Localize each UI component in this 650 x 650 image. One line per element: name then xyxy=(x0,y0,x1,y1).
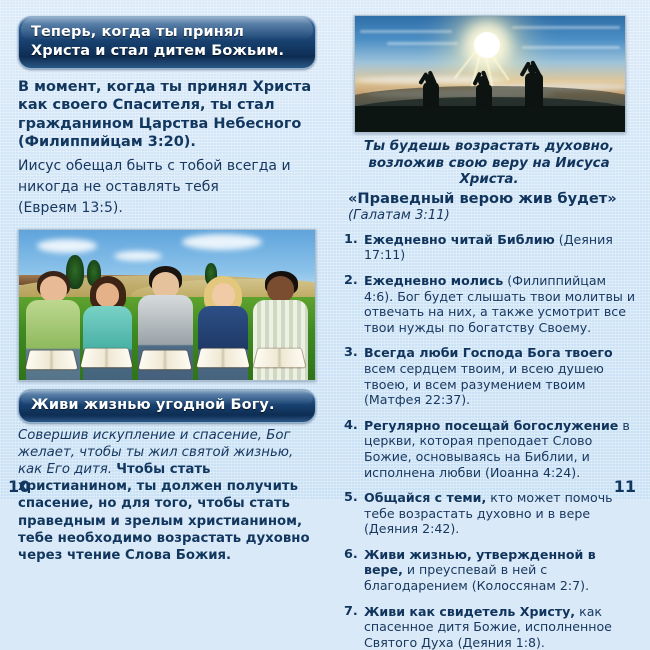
person-figure xyxy=(197,275,250,380)
person-figure xyxy=(81,275,134,380)
page-left: Теперь, когда ты принял Христа и стал ди… xyxy=(0,0,330,500)
list-item-number: 6. xyxy=(344,547,358,563)
list-item-bold: Общайся с теми, xyxy=(364,490,486,505)
steps-list: 1. Ежедневно читай Библию (Деяния 17:11)… xyxy=(342,232,638,650)
head-shape xyxy=(267,276,294,302)
list-item-bold: Ежедневно молись xyxy=(364,273,503,288)
banner-top-text: Теперь, когда ты принял Христа и стал ди… xyxy=(31,24,284,59)
cloud-streak xyxy=(512,26,620,29)
open-bible xyxy=(196,349,249,368)
open-bible xyxy=(26,350,78,369)
list-item-bold: Ежедневно читай Библию xyxy=(364,232,555,247)
cloud-shape xyxy=(114,251,162,261)
silhouette-figure xyxy=(468,68,494,110)
silhouette-figure xyxy=(414,69,440,109)
list-item-bold: Регулярно посещай богослужение xyxy=(364,418,618,433)
sun-glow xyxy=(474,32,500,58)
banner-bottom-text: Живи жизнью угодной Богу. xyxy=(31,397,275,413)
torso-shape xyxy=(423,82,439,109)
page-number-right: 11 xyxy=(614,477,636,496)
lower-paragraph: Совершив искупление и спасение, Бог жела… xyxy=(18,427,316,565)
list-item-bold: Всегда люби Господа Бога твоего xyxy=(364,345,613,360)
list-item-number: 7. xyxy=(344,604,358,620)
sub-line-3: (Евреям 13:5). xyxy=(18,198,316,219)
lower-bold-text: Чтобы стать христианином, ты должен полу… xyxy=(18,462,310,563)
sub-line-2: никогда не оставлять тебя xyxy=(18,177,316,198)
head-shape xyxy=(40,276,67,302)
photo-sunrise-praise xyxy=(354,15,626,133)
person-figure xyxy=(25,269,81,380)
torso-shape xyxy=(198,306,248,380)
list-item: 1. Ежедневно читай Библию (Деяния 17:11) xyxy=(342,232,638,263)
list-item: 3. Всегда люби Господа Бога твоего всем … xyxy=(342,345,638,407)
verse-line-1: Ты будешь возрастать духовно, xyxy=(344,139,634,156)
verse-line-2: возложив свою веру на Иисуса Христа. xyxy=(344,156,634,189)
open-bible xyxy=(81,349,133,368)
head-shape xyxy=(212,283,235,307)
silhouette-figure xyxy=(517,60,545,108)
verse-line-3: «Праведный верою жив будет» xyxy=(344,189,634,208)
torso-shape xyxy=(253,300,308,380)
open-bible xyxy=(254,349,306,368)
list-item-number: 2. xyxy=(344,273,358,289)
cloud-shape xyxy=(182,234,262,250)
cloud-streak xyxy=(387,42,457,45)
list-item: 5. Общайся с теми, кто может помочь тебе… xyxy=(342,490,638,537)
list-item-number: 4. xyxy=(344,418,358,434)
sub-paragraph: Иисус обещал быть с тобой всегда и никог… xyxy=(18,156,316,219)
list-item: 4. Регулярно посещай богослужение в церк… xyxy=(342,418,638,480)
cloud-shape xyxy=(37,239,97,253)
verse-heading: Ты будешь возрастать духовно, возложив с… xyxy=(344,139,634,224)
verse-reference: (Галатам 3:11) xyxy=(344,208,634,224)
torso-shape xyxy=(525,73,543,108)
list-item-number: 1. xyxy=(344,232,358,248)
head-shape xyxy=(96,283,119,307)
list-item: 6. Живи жизнью, утвержденной в вере, и п… xyxy=(342,547,638,594)
lower-section: Живи жизнью угодной Богу. Совершив искуп… xyxy=(18,389,316,565)
head-shape xyxy=(152,272,179,297)
page-right: Ты будешь возрастать духовно, возложив с… xyxy=(330,0,650,500)
tract-spread: Теперь, когда ты принял Христа и стал ди… xyxy=(0,0,650,500)
list-item: 7. Живи как свидетель Христу, как спасен… xyxy=(342,604,638,650)
list-item-number: 5. xyxy=(344,490,358,506)
cloud-streak xyxy=(522,46,619,49)
list-item-number: 3. xyxy=(344,345,358,361)
cloud-streak xyxy=(360,30,452,33)
banner-bottom-heading: Живи жизнью угодной Богу. xyxy=(18,389,316,423)
open-bible xyxy=(138,351,191,370)
person-figure xyxy=(253,269,309,380)
list-item: 2. Ежедневно молись (Филиппийцам 4:6). Б… xyxy=(342,273,638,335)
sub-line-1: Иисус обещал быть с тобой всегда и xyxy=(18,156,316,177)
torso-shape xyxy=(476,84,492,110)
page-number-left: 10 xyxy=(8,477,30,496)
lead-paragraph: В момент, когда ты принял Христа как сво… xyxy=(18,78,316,152)
torso-shape xyxy=(83,306,132,380)
list-item-bold: Живи как свидетель Христу, xyxy=(364,604,575,619)
person-figure xyxy=(137,266,193,380)
banner-top-heading: Теперь, когда ты принял Христа и стал ди… xyxy=(18,16,316,69)
photo-youth-bible-study xyxy=(18,229,316,381)
list-item-rest: всем сердцем твоим, и всею душею твоею, … xyxy=(364,361,604,407)
